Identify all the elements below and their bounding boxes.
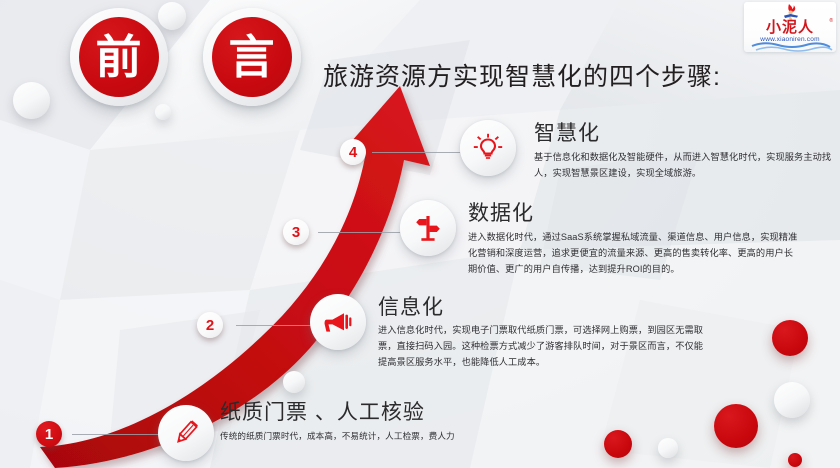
decor-sphere-white	[658, 438, 678, 458]
section-badge-yan: 言	[203, 8, 301, 106]
decor-sphere-red	[788, 453, 802, 467]
step-heading-1: 纸质门票 、人工核验	[220, 396, 425, 426]
step-marker-4[interactable]: 4	[340, 139, 366, 165]
step-heading-3: 数据化	[468, 197, 534, 227]
step-heading-2: 信息化	[378, 291, 444, 321]
wave-icon	[744, 40, 836, 52]
signpost-icon	[400, 200, 456, 256]
step-body-2: 进入信息化时代，实现电子门票取代纸质门票，可选择网上购票，到园区无需取票，直接扫…	[378, 322, 708, 370]
decor-sphere-white	[155, 104, 171, 120]
slide-canvas: 前 言 旅游资源方实现智慧化的四个步骤: 小泥人 ® www.xiaoniren…	[0, 0, 840, 468]
step-marker-2[interactable]: 2	[197, 312, 223, 338]
decor-sphere-red	[714, 404, 758, 448]
step-body-4: 基于信息化和数据化及智能硬件，从而进入智慧化时代，实现服务主动找人，实现智慧景区…	[534, 149, 836, 181]
decor-sphere-red	[604, 430, 632, 458]
decor-sphere-white	[13, 82, 50, 119]
signpost-glyph	[413, 213, 443, 243]
decor-sphere-white	[774, 382, 810, 418]
step-marker-2-number: 2	[206, 317, 214, 334]
megaphone-icon	[310, 294, 366, 350]
leader-line-step-3	[318, 232, 400, 233]
pencil-glyph	[171, 418, 201, 448]
section-badge-qian: 前	[70, 8, 168, 106]
logo-name: 小泥人	[744, 20, 836, 36]
decor-sphere-white	[283, 371, 305, 393]
page-title: 旅游资源方实现智慧化的四个步骤:	[323, 57, 721, 93]
registered-mark-icon: ®	[829, 18, 833, 24]
step-heading-4: 智慧化	[534, 117, 600, 147]
step-body-3: 进入数据化时代，通过SaaS系统掌握私域流量、渠道信息、用户信息，实现精准化营销…	[468, 229, 798, 277]
leader-line-step-4	[372, 152, 460, 153]
decor-sphere-white	[158, 2, 186, 30]
section-badge-qian-label: 前	[79, 17, 159, 97]
section-badge-yan-label: 言	[212, 17, 292, 97]
step-marker-1-number: 1	[45, 426, 53, 443]
pencil-icon	[158, 405, 214, 461]
step-marker-3[interactable]: 3	[283, 219, 309, 245]
leader-line-step-1	[72, 434, 166, 435]
decor-sphere-red	[772, 320, 808, 356]
lightbulb-glyph	[473, 133, 503, 163]
megaphone-glyph	[323, 307, 353, 337]
step-marker-3-number: 3	[292, 224, 300, 241]
step-marker-4-number: 4	[349, 144, 357, 161]
step-body-1: 传统的纸质门票时代，成本高，不易统计，人工检票，费人力	[220, 428, 550, 444]
lightbulb-icon	[460, 120, 516, 176]
brand-logo[interactable]: 小泥人 ® www.xiaoniren.com	[744, 2, 836, 52]
step-marker-1[interactable]: 1	[36, 421, 62, 447]
